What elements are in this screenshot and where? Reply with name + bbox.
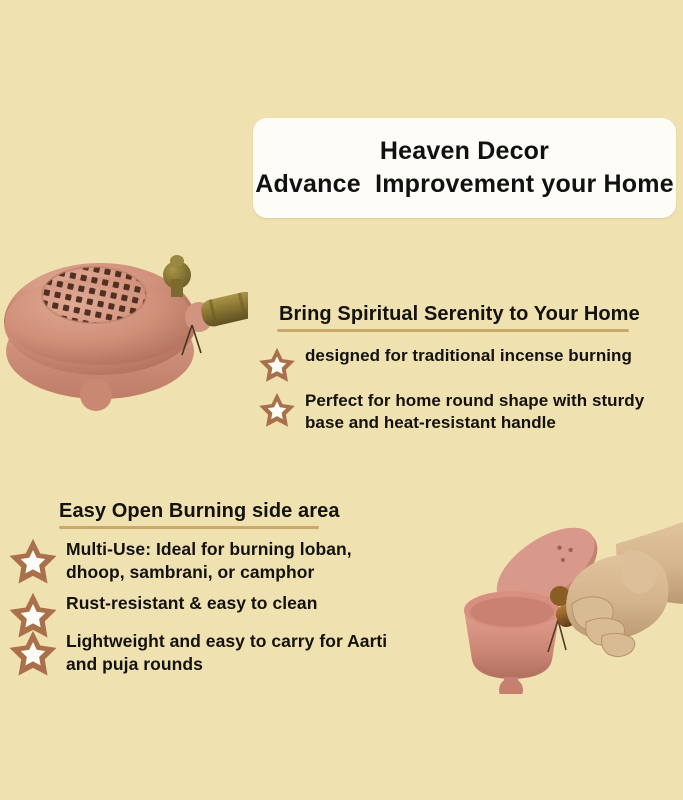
feature-text: designed for traditional incense burning [305,345,632,367]
feature-item: Lightweight and easy to carry for Aarti … [8,630,388,676]
section-heading-easy-open: Easy Open Burning side area [59,500,340,523]
feature-text: Lightweight and easy to carry for Aarti … [66,630,388,676]
product-image-burner-closed [0,243,248,415]
feature-item: designed for traditional incense burning [258,345,658,382]
feature-item: Multi-Use: Ideal for burning loban, dhoo… [8,538,388,584]
infographic-canvas: Heaven Decor Advance Improvement your Ho… [0,0,683,800]
feature-text: Multi-Use: Ideal for burning loban, dhoo… [66,538,388,584]
brand-title: Heaven Decor [380,137,549,166]
feature-item: Perfect for home round shape with sturdy… [258,390,658,435]
star-bullet-icon [8,628,58,676]
product-image-burner-open-in-hand [420,492,683,694]
section-heading-spiritual-serenity: Bring Spiritual Serenity to Your Home [279,303,640,326]
feature-text: Perfect for home round shape with sturdy… [305,390,658,435]
section-heading-underline-left [59,526,319,529]
feature-text: Rust-resistant & easy to clean [66,592,317,615]
star-bullet-icon [8,536,58,584]
star-bullet-icon [258,346,296,382]
star-bullet-icon [258,391,296,427]
title-banner: Heaven Decor Advance Improvement your Ho… [253,118,676,218]
section-heading-underline-right [277,329,629,332]
brand-tagline: Advance Improvement your Home [255,170,674,199]
